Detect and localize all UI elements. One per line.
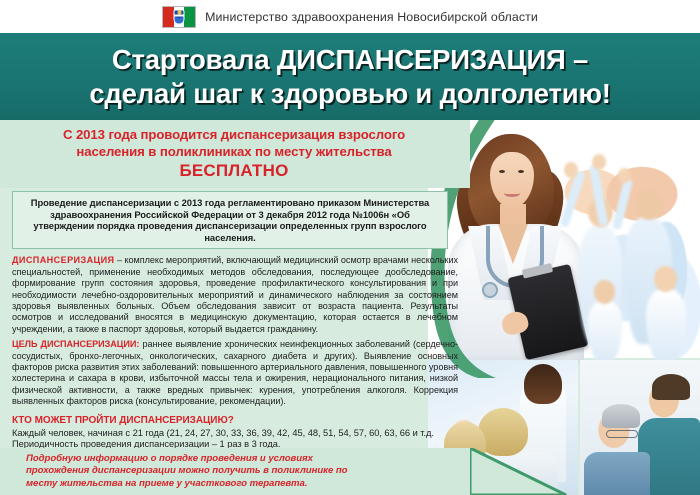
poster-title-line-2: сделай шаг к здоровью и долголетию!	[89, 78, 610, 110]
family-figure-girl	[646, 288, 686, 362]
goal-paragraph: ЦЕЛЬ ДИСПАНСЕРИЗАЦИИ: раннее выявление х…	[12, 339, 458, 407]
definition-term: ДИСПАНСЕРИЗАЦИЯ	[12, 255, 114, 265]
definition-paragraph: ДИСПАНСЕРИЗАЦИЯ – комплекс мероприятий, …	[12, 255, 458, 335]
who-heading: КТО МОЖЕТ ПРОЙТИ ДИСПАНСЕРИЗАЦИЮ?	[12, 414, 458, 427]
poster-title-line-1: Стартовала ДИСПАНСЕРИЗАЦИЯ –	[112, 44, 588, 76]
stethoscope-bell	[482, 282, 498, 298]
content-panel: С 2013 года проводится диспансеризация в…	[0, 120, 470, 494]
footer-line-2: прохождения диспансеризации можно получи…	[26, 465, 347, 477]
patient-hair	[602, 404, 640, 428]
free-screening-banner: С 2013 года проводится диспансеризация в…	[0, 120, 470, 188]
raised-arm-3	[612, 178, 633, 231]
banner-line-2: населения в поликлиниках по месту житель…	[14, 143, 454, 160]
raised-hand-2	[592, 154, 606, 170]
family-head-girl	[654, 266, 677, 292]
footer-inner: Подробную информацию о порядке проведени…	[0, 453, 347, 490]
flag-stripe-green	[184, 7, 195, 27]
doctor-eye-left	[499, 170, 505, 173]
who-line-1: Каждый человек, начиная с 21 года (21, 2…	[12, 428, 458, 440]
raised-hand-3	[618, 168, 631, 183]
goal-body: раннее выявление хронических неинфекцион…	[12, 339, 458, 406]
footer-info-strip: Подробную информацию о порядке проведени…	[0, 448, 470, 495]
examining-doctor-hair	[652, 374, 690, 400]
header-inner: Министерство здравоохранения Новосибирск…	[162, 6, 538, 28]
family-figure-boy	[588, 300, 622, 362]
raised-hand-1	[564, 162, 578, 178]
coat-of-arms-icon	[174, 9, 185, 24]
dental-chair	[476, 452, 558, 495]
doctor-eye-right	[518, 170, 524, 173]
banner-line-1: С 2013 года проводится диспансеризация в…	[14, 126, 454, 143]
family-head-boy	[594, 280, 615, 304]
patient-glasses-icon	[606, 430, 638, 438]
novosibirsk-oblast-flag-icon	[162, 6, 196, 28]
flag-stripe-red	[163, 7, 174, 27]
banner-free-label: БЕСПЛАТНО	[14, 160, 454, 181]
doctor-examining-elderly-patient-photo	[580, 360, 700, 495]
clinic-nurse-hair	[524, 364, 562, 404]
header-bar: Министерство здравоохранения Новосибирск…	[0, 0, 700, 33]
legal-note-text: Проведение диспансеризации с 2013 года р…	[21, 197, 439, 243]
poster-root: Министерство здравоохранения Новосибирск…	[0, 0, 700, 495]
goal-term: ЦЕЛЬ ДИСПАНСЕРИЗАЦИИ:	[12, 339, 139, 349]
poster-title-band: Стартовала ДИСПАНСЕРИЗАЦИЯ – сделай шаг …	[0, 33, 700, 120]
footer-line-1: Подробную информацию о порядке проведени…	[26, 453, 347, 465]
definition-body: – комплекс мероприятий, включающий медиц…	[12, 255, 458, 333]
patient-shirt	[584, 452, 650, 495]
legal-note-box: Проведение диспансеризации с 2013 года р…	[12, 191, 448, 249]
footer-line-3: месту жительства на приеме у участкового…	[26, 478, 347, 490]
family-head-father	[636, 190, 662, 220]
ministry-name: Министерство здравоохранения Новосибирск…	[205, 10, 538, 24]
doctor-smile	[504, 190, 520, 197]
